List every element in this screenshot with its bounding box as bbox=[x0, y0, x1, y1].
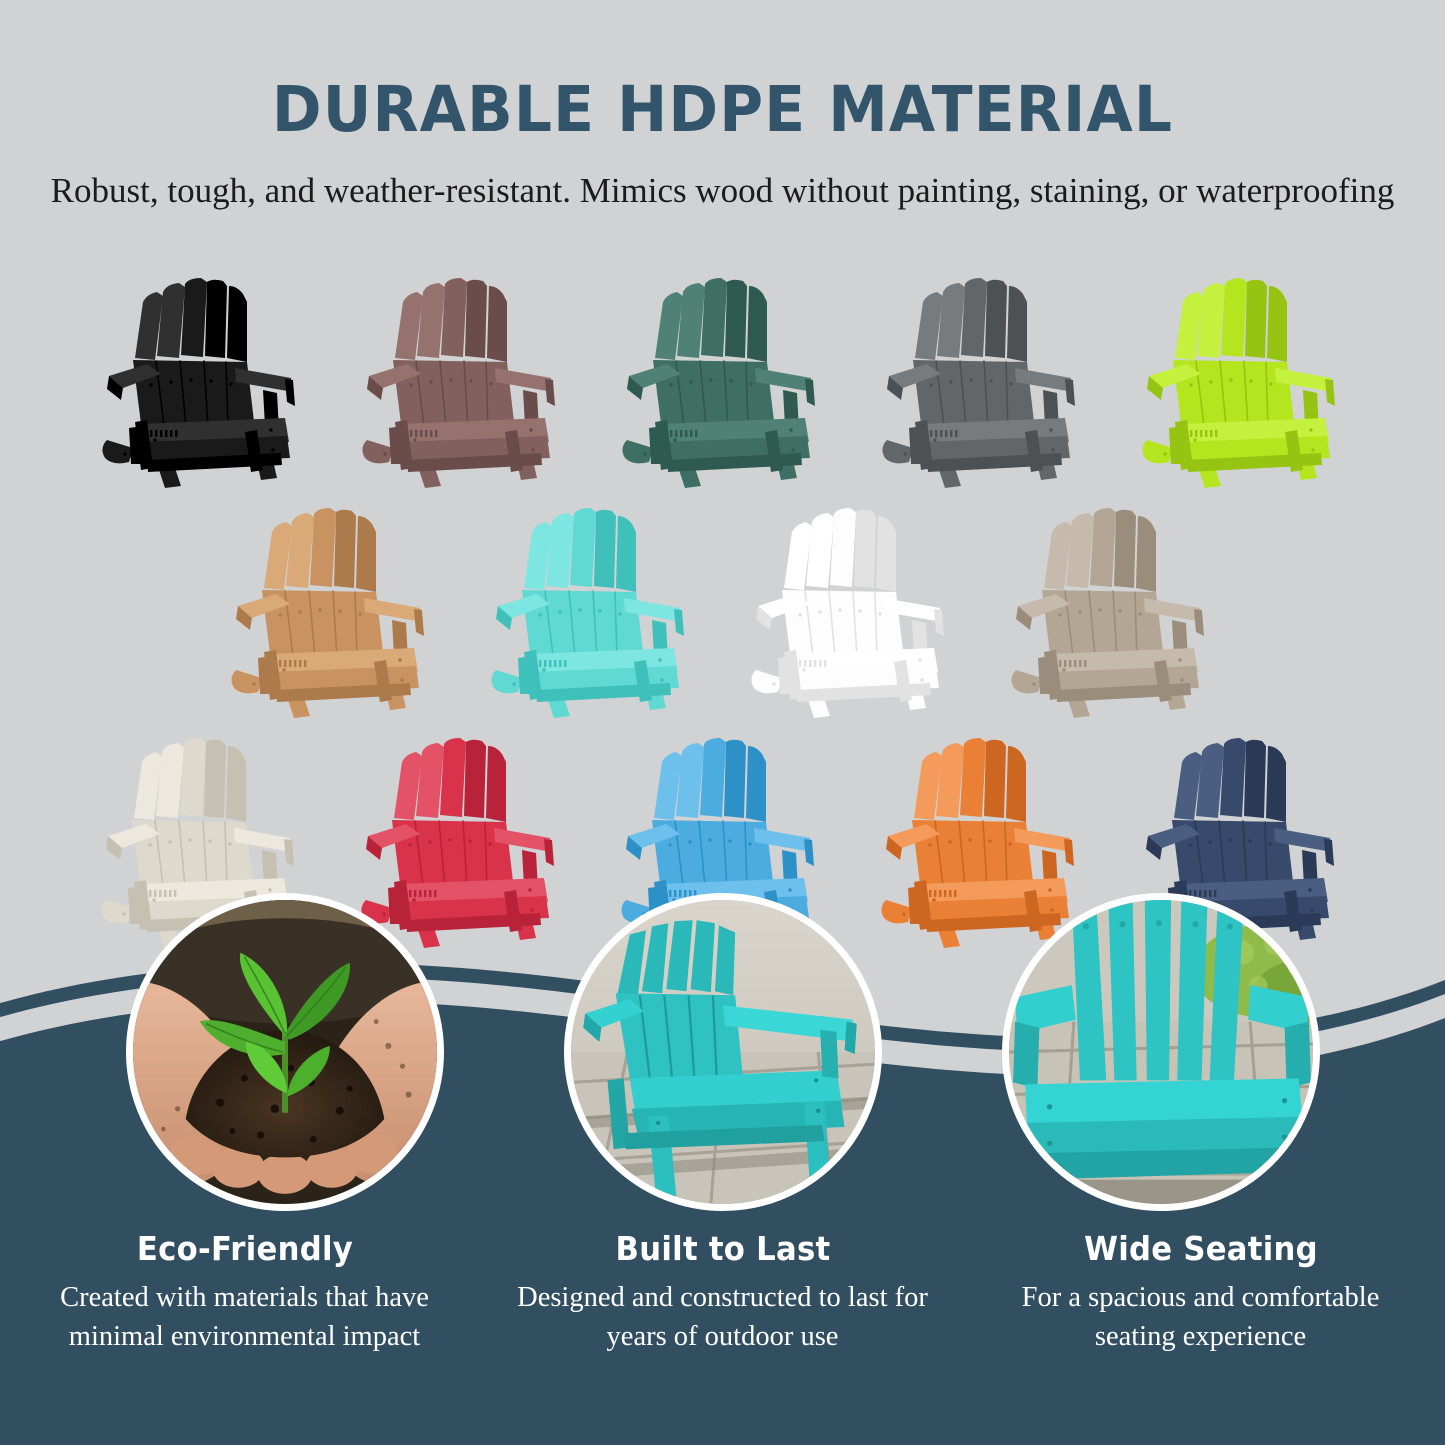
feature-built-to-last: Built to Last Designed and constructed t… bbox=[503, 1232, 943, 1357]
hands-seedling-illustration bbox=[133, 900, 437, 1204]
adirondack-chair-icon bbox=[484, 502, 702, 720]
wide-seating-photo bbox=[1002, 893, 1320, 1211]
feature-text-row: Eco-Friendly Created with materials that… bbox=[0, 1232, 1445, 1357]
chair-swatch-brown[interactable] bbox=[355, 272, 573, 490]
chair-swatch-dark-green[interactable] bbox=[615, 272, 833, 490]
page-subtitle: Robust, tough, and weather-resistant. Mi… bbox=[0, 141, 1445, 215]
feature-description: Created with materials that have minimal… bbox=[25, 1279, 465, 1357]
feature-title: Wide Seating bbox=[996, 1232, 1405, 1265]
chair-swatch-weathered-wood[interactable] bbox=[1004, 502, 1222, 720]
feature-photo-row bbox=[0, 893, 1445, 1223]
eco-friendly-photo bbox=[126, 893, 444, 1211]
chair-swatch-gray[interactable] bbox=[875, 272, 1093, 490]
adirondack-chair-icon bbox=[1135, 272, 1353, 490]
built-to-last-photo bbox=[564, 893, 882, 1211]
feature-title: Built to Last bbox=[518, 1232, 927, 1265]
chair-row-2 bbox=[0, 502, 1445, 720]
chair-swatch-black[interactable] bbox=[95, 272, 313, 490]
feature-wide-seating: Wide Seating For a spacious and comforta… bbox=[981, 1232, 1421, 1357]
page-title: DURABLE HDPE MATERIAL bbox=[36, 0, 1409, 141]
chair-swatch-white[interactable] bbox=[744, 502, 962, 720]
adirondack-chair-icon bbox=[744, 502, 962, 720]
hdpe-material-infographic: DURABLE HDPE MATERIAL Robust, tough, and… bbox=[0, 0, 1445, 1445]
adirondack-chair-icon bbox=[615, 272, 833, 490]
feature-title: Eco-Friendly bbox=[40, 1232, 449, 1265]
header: DURABLE HDPE MATERIAL Robust, tough, and… bbox=[0, 0, 1445, 215]
feature-eco-friendly: Eco-Friendly Created with materials that… bbox=[25, 1232, 465, 1357]
patio-chair-photo bbox=[571, 900, 875, 1204]
adirondack-chair-icon bbox=[875, 272, 1093, 490]
adirondack-chair-icon bbox=[95, 272, 313, 490]
wide-seat-closeup-photo bbox=[1009, 900, 1313, 1204]
chair-swatch-turquoise[interactable] bbox=[484, 502, 702, 720]
feature-description: For a spacious and comfortable seating e… bbox=[981, 1279, 1421, 1357]
adirondack-chair-icon bbox=[355, 272, 573, 490]
feature-description: Designed and constructed to last for yea… bbox=[503, 1279, 943, 1357]
adirondack-chair-icon bbox=[224, 502, 442, 720]
adirondack-chair-icon bbox=[1004, 502, 1222, 720]
chair-swatch-lime-green[interactable] bbox=[1135, 272, 1353, 490]
chair-row-1 bbox=[2, 272, 1445, 490]
chair-swatch-teak[interactable] bbox=[224, 502, 442, 720]
chair-color-grid bbox=[0, 272, 1445, 950]
